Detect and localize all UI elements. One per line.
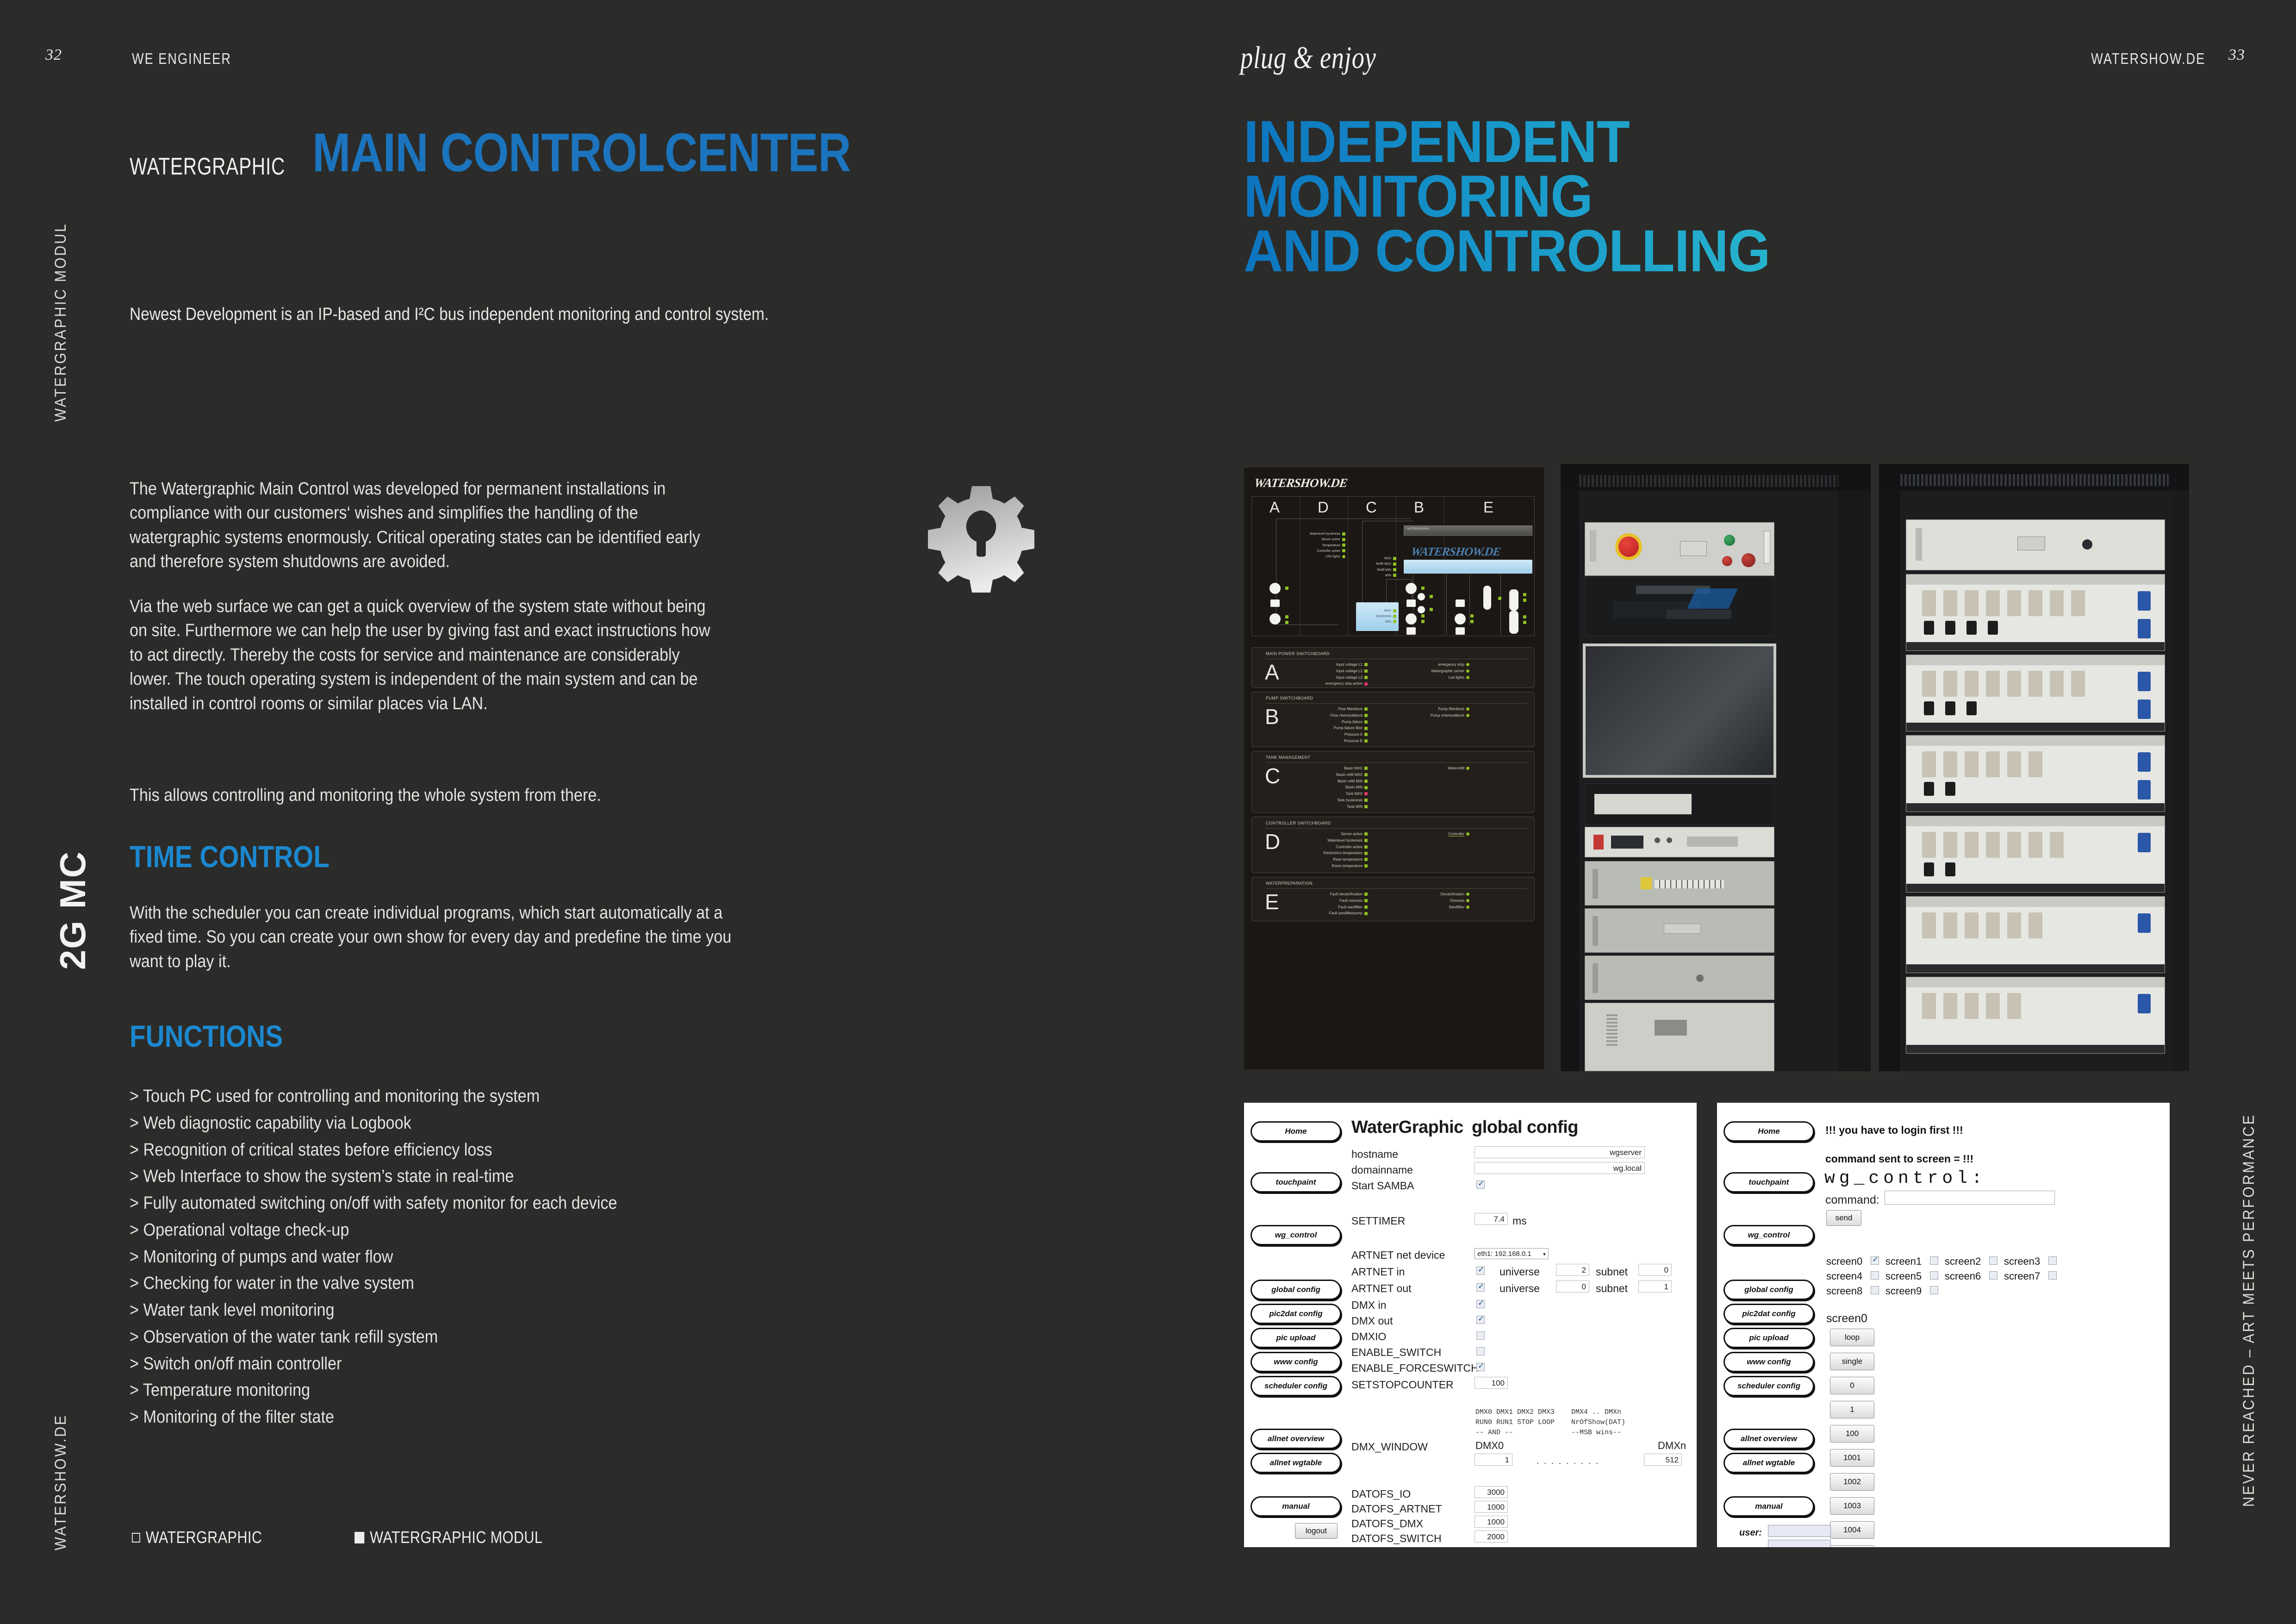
cmd-button-single[interactable]: single [1830, 1353, 1874, 1370]
screen-checkbox-label-3: screen3 [2004, 1255, 2040, 1268]
legend-label: WATERGRAPHIC MODUL [370, 1528, 542, 1547]
gear-icon [923, 481, 1039, 597]
nav-allnet-overview[interactable]: allnet overview [1251, 1429, 1341, 1449]
active-screen-label: screen0 [1826, 1312, 1867, 1325]
label-datofs-switch: DATOFS_SWITCH [1351, 1532, 1442, 1545]
functions-list: > Touch PC used for controlling and moni… [130, 1083, 824, 1431]
checkbox-dmxio[interactable] [1476, 1331, 1485, 1340]
cmd-button-1[interactable]: 1 [1830, 1401, 1874, 1418]
screen-checkbox-label-6: screen6 [1945, 1270, 1981, 1282]
schematic-column-b: B [1414, 499, 1424, 516]
nav-www-config[interactable]: www config [1251, 1352, 1341, 1372]
side-label-2gmc: 2G MC [52, 831, 94, 970]
list-item: > Water tank level monitoring [130, 1297, 754, 1324]
running-head-left: WE ENGINEER [132, 50, 231, 68]
nav-pic-upload[interactable]: pic upload [1251, 1328, 1341, 1348]
list-item: > Operational voltage check-up [130, 1217, 754, 1244]
label-dmx-col-left: DMX0 [1475, 1440, 1504, 1452]
input-command[interactable] [1885, 1191, 2055, 1205]
screen-checkbox-5[interactable] [1930, 1271, 1938, 1280]
list-item: > Checking for water in the valve system [130, 1270, 754, 1297]
headline: INDEPENDENT MONITORING AND CONTROLLING [1244, 115, 1770, 278]
legend-item-watergraphic: WATERGRAPHIC [132, 1528, 262, 1547]
cmd-button-1001[interactable]: 1001 [1830, 1449, 1874, 1467]
wg-control-title: wg_control: [1824, 1168, 1986, 1188]
schematic-watergraphic-bar: WATERGRAPHIC [1404, 525, 1532, 536]
list-item: > Switch on/off main controller [130, 1351, 754, 1378]
nav-allnet-overview[interactable]: allnet overview [1724, 1429, 1814, 1449]
screen-checkbox-7[interactable] [2048, 1271, 2057, 1280]
screen-checkbox-4[interactable] [1871, 1271, 1879, 1280]
folio-right: 33 [2228, 46, 2245, 64]
side-label-never-reached: NEVER REACHED – ART MEETS PERFORMANCE [2240, 1132, 2258, 1507]
schematic-tank-leds: MAX Refill MAX Refill MIN MIN [1350, 556, 1396, 579]
nav-touchpaint[interactable]: touchpaint [1251, 1172, 1341, 1193]
nav-wg-control[interactable]: wg_control [1724, 1225, 1814, 1245]
cmd-button-100[interactable]: 100 [1830, 1425, 1874, 1443]
side-label-watergraphic-modul: WATERGRAPHIC MODUL [52, 138, 70, 422]
label-artnet-in-subnet: subnet [1596, 1266, 1628, 1278]
input-dmx-right[interactable]: 512 [1644, 1454, 1682, 1466]
schematic-column-c: C [1366, 499, 1377, 516]
dmx-window-dots: . . . . . . . . . [1537, 1456, 1599, 1466]
body-paragraph-2: Via the web surface we can get a quick o… [130, 594, 713, 716]
label-datofs-dmx: DATOFS_DMX [1351, 1518, 1423, 1530]
screen-checkbox-label-0: screen0 [1826, 1255, 1862, 1268]
input-datofs-io[interactable]: 3000 [1475, 1486, 1508, 1498]
folio-left: 32 [45, 46, 62, 64]
label-artnet-out: ARTNET out [1351, 1282, 1412, 1295]
schematic-column-a: A [1269, 499, 1280, 516]
input-user[interactable] [1768, 1525, 1831, 1537]
nav-allnet-wgtable[interactable]: allnet wgtable [1251, 1453, 1341, 1473]
send-button[interactable]: send [1826, 1210, 1861, 1226]
cmd-button-1002[interactable]: 1002 [1830, 1473, 1874, 1491]
nav-touchpaint[interactable]: touchpaint [1724, 1172, 1814, 1193]
input-datofs-artnet[interactable]: 1000 [1475, 1501, 1508, 1513]
body-column: The Watergraphic Main Control was develo… [130, 477, 778, 736]
label-enable-forceswitch: ENABLE_FORCESWITCH [1351, 1362, 1479, 1374]
nav-pic-upload[interactable]: pic upload [1724, 1328, 1814, 1348]
filled-square-icon [355, 1532, 364, 1543]
nav-allnet-wgtable[interactable]: allnet wgtable [1724, 1453, 1814, 1473]
label-artnet-in-universe: universe [1500, 1266, 1540, 1278]
photo-server-rack-right [1879, 464, 2189, 1071]
label-enable-switch: ENABLE_SWITCH [1351, 1346, 1441, 1359]
input-artnet-out-subnet[interactable]: 1 [1638, 1280, 1672, 1293]
screen-checkbox-label-5: screen5 [1885, 1270, 1922, 1282]
nav-wg-control[interactable]: wg_control [1251, 1225, 1341, 1245]
label-start-samba: Start SAMBA [1351, 1180, 1414, 1192]
input-hostname[interactable]: wgserver [1475, 1146, 1645, 1158]
label-command: command: [1825, 1193, 1879, 1207]
side-label-watershow: WATERSHOW.DE [52, 1375, 70, 1550]
nav-home[interactable]: Home [1724, 1121, 1814, 1142]
page-title: MAIN CONTROLCENTER [312, 121, 851, 184]
label-artnet-out-subnet: subnet [1596, 1282, 1628, 1295]
legend-item-watergraphic-modul: WATERGRAPHIC MODUL [355, 1528, 542, 1547]
cmd-button-1003[interactable]: 1003 [1830, 1497, 1874, 1515]
schematic-card-a: MAIN POWER SWITCHBOARD A Input voltage L… [1251, 647, 1535, 688]
schematic-panel: WATERSHOW.DE A D C B E [1244, 468, 1544, 1069]
screen-checkbox-3[interactable] [2048, 1256, 2057, 1265]
screen-checkbox-9[interactable] [1930, 1286, 1938, 1294]
select-artnet-device[interactable]: eth1: 192.168.0.1 [1475, 1248, 1549, 1259]
command-sent-message: command sent to screen = !!! [1825, 1153, 1973, 1165]
heading-time-control: TIME CONTROL [130, 839, 330, 874]
screen-checkbox-0[interactable] [1871, 1256, 1879, 1265]
time-control-body: With the scheduler you can create indivi… [130, 901, 734, 974]
spread-page: 32 WE ENGINEER WATERGRAPHIC MODUL 2G MC … [0, 0, 2296, 1624]
app-title: WaterGraphic [1351, 1118, 1463, 1137]
screen-checkbox-6[interactable] [1989, 1271, 1997, 1280]
headline-line-1: INDEPENDENT [1244, 115, 1770, 169]
schematic-column-d: D [1318, 499, 1329, 516]
nav-global-config[interactable]: global config [1724, 1280, 1814, 1300]
schematic-card-e: WATERPREPARATION E Fault decalcification… [1251, 877, 1535, 921]
screen-checkbox-label-2: screen2 [1945, 1255, 1981, 1268]
schematic-card-d: CONTROLLER SWITCHBOARD D Server active W… [1251, 817, 1535, 873]
body-paragraph-3: This allows controlling and monitoring t… [130, 783, 713, 807]
checkbox-artnet-in[interactable] [1476, 1267, 1485, 1275]
list-item: > Web Interface to show the system’s sta… [130, 1163, 754, 1190]
screen-checkbox-label-9: screen9 [1885, 1285, 1922, 1297]
nav-www-config[interactable]: www config [1724, 1352, 1814, 1372]
label-domainname: domainname [1351, 1164, 1413, 1176]
input-settimer[interactable]: 7.4 [1475, 1213, 1508, 1225]
input-artnet-out-universe[interactable]: 0 [1556, 1280, 1589, 1293]
label-dmxio: DMXIO [1351, 1330, 1386, 1343]
headline-line-2: MONITORING [1244, 169, 1770, 224]
heading-functions: FUNCTIONS [130, 1018, 283, 1054]
legend: WATERGRAPHIC WATERGRAPHIC MODUL [132, 1528, 576, 1547]
schematic-top-leds: Waterlevel hysteresis Server active Temp… [1276, 531, 1345, 560]
empty-square-icon [132, 1533, 140, 1543]
photo-server-rack-left [1561, 464, 1871, 1071]
cmd-button-1005[interactable]: 1005 [1830, 1545, 1874, 1547]
list-item: > Web diagnostic capability via Logbook [130, 1110, 754, 1137]
label-dmx-in: DMX in [1351, 1299, 1386, 1312]
label-datofs-io: DATOFS_IO [1351, 1488, 1411, 1500]
label-setstopcounter: SETSTOPCOUNTER [1351, 1379, 1454, 1391]
checkbox-dmx-out[interactable] [1476, 1316, 1485, 1324]
nav-manual[interactable]: manual [1251, 1496, 1341, 1517]
nav-home[interactable]: Home [1251, 1121, 1341, 1142]
checkbox-start-samba[interactable] [1476, 1181, 1485, 1189]
nav-scheduler-config[interactable]: scheduler config [1724, 1376, 1814, 1396]
running-head-right: WATERSHOW.DE [2091, 50, 2205, 68]
logout-button[interactable]: logout [1295, 1523, 1338, 1539]
list-item: > Recognition of critical states before … [130, 1137, 754, 1164]
checkbox-enable-forceswitch[interactable] [1476, 1363, 1485, 1371]
lead-paragraph: Newest Development is an IP-based and I²… [130, 306, 842, 323]
list-item: > Observation of the water tank refill s… [130, 1324, 754, 1351]
headline-line-3: AND CONTROLLING [1244, 224, 1770, 279]
screen-checkbox-label-7: screen7 [2004, 1270, 2040, 1282]
nav-scheduler-config[interactable]: scheduler config [1251, 1376, 1341, 1396]
screen-checkbox-label-8: screen8 [1826, 1285, 1862, 1297]
list-item: > Monitoring of pumps and water flow [130, 1244, 754, 1271]
body-paragraph-1: The Watergraphic Main Control was develo… [130, 477, 713, 574]
label-hostname: hostname [1351, 1148, 1398, 1161]
cmd-button-0[interactable]: 0 [1830, 1377, 1874, 1394]
input-datofs-dmx[interactable]: 1000 [1475, 1516, 1508, 1528]
page-title-config: global config [1472, 1118, 1578, 1137]
list-item: > Temperature monitoring [130, 1377, 754, 1404]
input-setstopcounter[interactable]: 100 [1475, 1377, 1508, 1389]
input-datofs-switch[interactable]: 2000 [1475, 1530, 1508, 1543]
tagline: plug & enjoy [1240, 39, 1376, 76]
screen-checkbox-8[interactable] [1871, 1286, 1879, 1294]
label-datofs-artnet: DATOFS_ARTNET [1351, 1503, 1442, 1515]
label-artnet-out-universe: universe [1500, 1282, 1540, 1295]
nav-pic2dat-config[interactable]: pic2dat config [1724, 1304, 1814, 1324]
schematic-card-c: TANK MANAGEMENT C Basin MAX Basin refill… [1251, 751, 1535, 813]
schematic-card-b: PUMP SWITCHBOARD B Flow filterblock Flow… [1251, 692, 1535, 747]
checkbox-artnet-out[interactable] [1476, 1283, 1485, 1292]
input-artnet-in-universe[interactable]: 2 [1556, 1264, 1589, 1276]
screen-checkbox-2[interactable] [1989, 1256, 1997, 1265]
label-user: user: [1739, 1528, 1762, 1538]
login-warning: !!! you have to login first !!! [1825, 1124, 1963, 1137]
input-dmx-left[interactable]: 1 [1475, 1454, 1512, 1466]
legend-label: WATERGRAPHIC [146, 1528, 262, 1547]
screenshot-global-config: Home touchpaint wg_control global config… [1244, 1103, 1697, 1547]
list-item: > Touch PC used for controlling and moni… [130, 1083, 754, 1110]
input-domainname[interactable]: wg.local [1475, 1162, 1645, 1174]
screen-checkbox-label-1: screen1 [1885, 1255, 1922, 1268]
cmd-button-1004[interactable]: 1004 [1830, 1521, 1874, 1539]
label-settimer: SETTIMER [1351, 1215, 1405, 1227]
checkbox-enable-switch[interactable] [1476, 1347, 1485, 1355]
label-artnet-device: ARTNET net device [1351, 1249, 1445, 1262]
page-kicker: WATERGRAPHIC [130, 153, 285, 181]
label-dmx-window: DMX_WINDOW [1351, 1441, 1428, 1453]
label-dmx-col-right: DMXn [1658, 1440, 1686, 1452]
list-item: > Monitoring of the filter state [130, 1404, 754, 1431]
schematic-logo: WATERSHOW.DE [1253, 476, 1348, 490]
cmd-button-loop[interactable]: loop [1830, 1329, 1874, 1346]
nav-manual[interactable]: manual [1724, 1496, 1814, 1517]
dmx-window-header: DMX0 DMX1 DMX2 DMX3 DMX4 .. DMXn RUN0 RU… [1475, 1407, 1625, 1437]
schematic-grid: A D C B E Waterlevel hysteresis Server a… [1251, 496, 1535, 636]
screen-checkbox-1[interactable] [1930, 1256, 1938, 1265]
label-dmx-out: DMX out [1351, 1315, 1393, 1327]
input-password[interactable] [1768, 1540, 1831, 1547]
label-settimer-unit: ms [1512, 1215, 1527, 1227]
schematic-blue-tank: MAX Hysteresis MIN [1356, 602, 1399, 631]
checkbox-dmx-in[interactable] [1476, 1300, 1485, 1308]
screen-checkbox-label-4: screen4 [1826, 1270, 1862, 1282]
schematic-blue-bar [1404, 560, 1532, 574]
screenshot-wg-control: Home touchpaint wg_control global config… [1717, 1103, 2170, 1547]
nav-global-config[interactable]: global config [1251, 1280, 1341, 1300]
schematic-watershow-logo: WATERSHOW.DE [1410, 545, 1501, 559]
input-artnet-in-subnet[interactable]: 0 [1638, 1264, 1672, 1276]
list-item: > Fully automated switching on/off with … [130, 1190, 754, 1217]
schematic-column-e: E [1483, 499, 1493, 516]
nav-pic2dat-config[interactable]: pic2dat config [1251, 1304, 1341, 1324]
label-artnet-in: ARTNET in [1351, 1266, 1405, 1278]
